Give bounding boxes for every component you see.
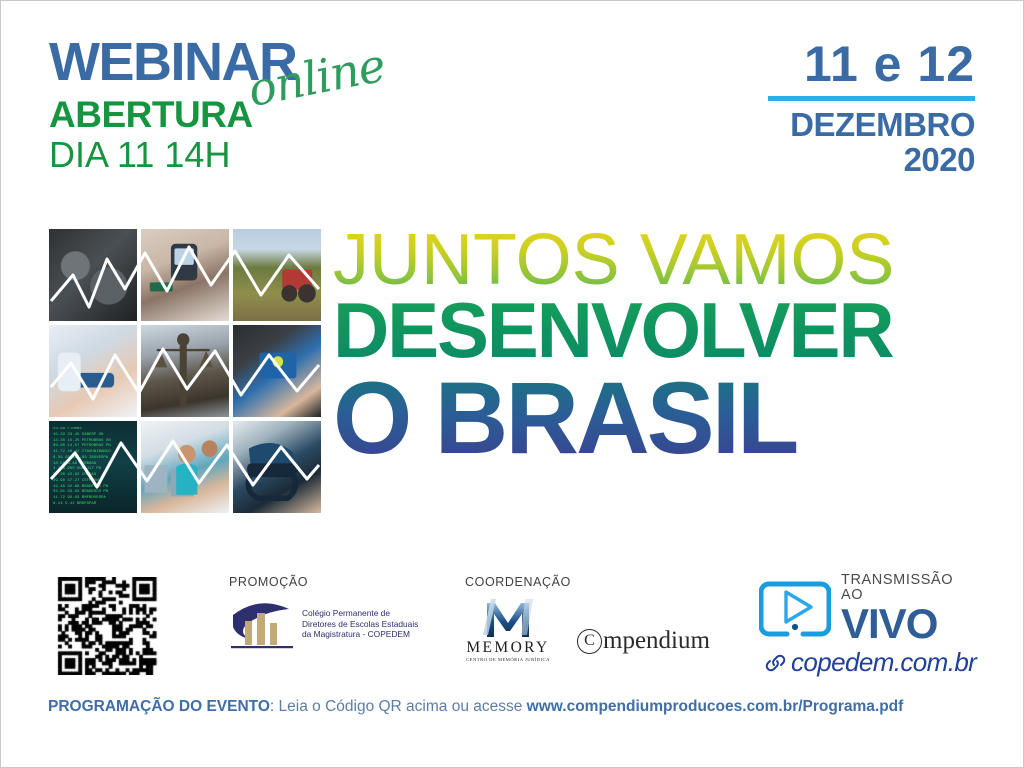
footer-note: PROGRAMAÇÃO DO EVENTO: Leia o Código QR …	[48, 698, 903, 716]
memory-m-icon	[465, 597, 551, 639]
live-words: TRANSMISSÃO AO VIVO	[841, 573, 979, 644]
live-badge: TRANSMISSÃO AO VIVO	[759, 573, 979, 644]
card-payment-photo	[141, 229, 229, 321]
date-year: 2020	[768, 142, 975, 178]
event-date-block: 11 e 12 DEZEMBRO 2020	[768, 37, 975, 178]
copedem-name-line-3: da Magistratura - COPEDEM	[302, 629, 418, 640]
copedem-logo: Colégio Permanente de Diretores de Escol…	[229, 597, 444, 651]
live-kicker: TRANSMISSÃO AO	[841, 573, 979, 602]
live-url-text: copedem.com.br	[791, 647, 976, 678]
date-days: 11 e 12	[768, 37, 975, 91]
promotion-block: PROMOÇÃO Colégio Permanente de Diretores…	[229, 575, 444, 651]
main-headline: JUNTOS VAMOS DESENVOLVER O BRASIL	[333, 227, 993, 471]
headline-line-3: O BRASIL	[333, 366, 993, 470]
copedem-name: Colégio Permanente de Diretores de Escol…	[302, 608, 418, 640]
headline-line-1: JUNTOS VAMOS	[333, 227, 993, 294]
link-icon	[765, 653, 787, 673]
live-broadcast-block: TRANSMISSÃO AO VIVO copedem.com.br	[759, 573, 979, 678]
healthcare-photo	[49, 325, 137, 417]
computer-lab-photo	[141, 421, 229, 513]
qr-code[interactable]	[47, 577, 167, 675]
copedem-mark-icon	[229, 597, 295, 651]
opening-time: DIA 11 14H	[49, 135, 296, 175]
memory-logo: MEMORY CENTRO DE MEMÓRIA JURÍDICA	[465, 597, 551, 663]
wallet-card-photo	[233, 325, 321, 417]
date-divider-rule	[768, 96, 975, 101]
live-headline: VIVO	[841, 604, 979, 644]
webinar-row: WEBINAR online	[49, 35, 296, 91]
date-month: DEZEMBRO	[768, 107, 975, 142]
compendium-name: mpendium	[603, 627, 710, 655]
promotion-label: PROMOÇÃO	[229, 575, 444, 589]
coordination-logos: MEMORY CENTRO DE MEMÓRIA JURÍDICA C mpen…	[465, 597, 725, 663]
header-left-group: WEBINAR online ABERTURA DIA 11 14H	[49, 35, 296, 175]
memory-name: MEMORY	[465, 639, 551, 656]
copedem-name-line-1: Colégio Permanente de	[302, 608, 418, 619]
compendium-logo: C mpendium	[577, 627, 710, 655]
sponsor-row: PROMOÇÃO Colégio Permanente de Diretores…	[1, 567, 1023, 677]
footer-instruction: Leia o Código QR acima ou acesse	[279, 698, 527, 715]
footer-separator: :	[270, 698, 279, 715]
compendium-c-icon: C	[577, 629, 602, 654]
stock-ticker-photo: 53.88 FloMax15.33 33.45 SABESP ON14.30 1…	[49, 421, 137, 513]
coordination-label: COORDENAÇÃO	[465, 575, 725, 589]
play-button-icon	[759, 580, 831, 638]
fuel-pump-photo	[233, 421, 321, 513]
memory-subtitle: CENTRO DE MEMÓRIA JURÍDICA	[465, 656, 551, 663]
photo-collage: 53.88 FloMax15.33 33.45 SABESP ON14.30 1…	[49, 229, 321, 513]
justice-statue-photo	[141, 325, 229, 417]
copedem-name-line-2: Diretores de Escolas Estaduais	[302, 619, 418, 630]
headline-line-2: DESENVOLVER	[333, 294, 993, 367]
event-poster: WEBINAR online ABERTURA DIA 11 14H 11 e …	[0, 0, 1024, 768]
ticker-rows: 53.88 FloMax15.33 33.45 SABESP ON14.30 1…	[53, 427, 133, 507]
gears-photo	[49, 229, 137, 321]
coordination-block: COORDENAÇÃO	[465, 575, 725, 663]
footer-label: PROGRAMAÇÃO DO EVENTO	[48, 698, 270, 715]
live-url-link[interactable]: copedem.com.br	[765, 647, 979, 678]
footer-url[interactable]: www.compendiumproducoes.com.br/Programa.…	[527, 698, 904, 715]
agriculture-photo	[233, 229, 321, 321]
